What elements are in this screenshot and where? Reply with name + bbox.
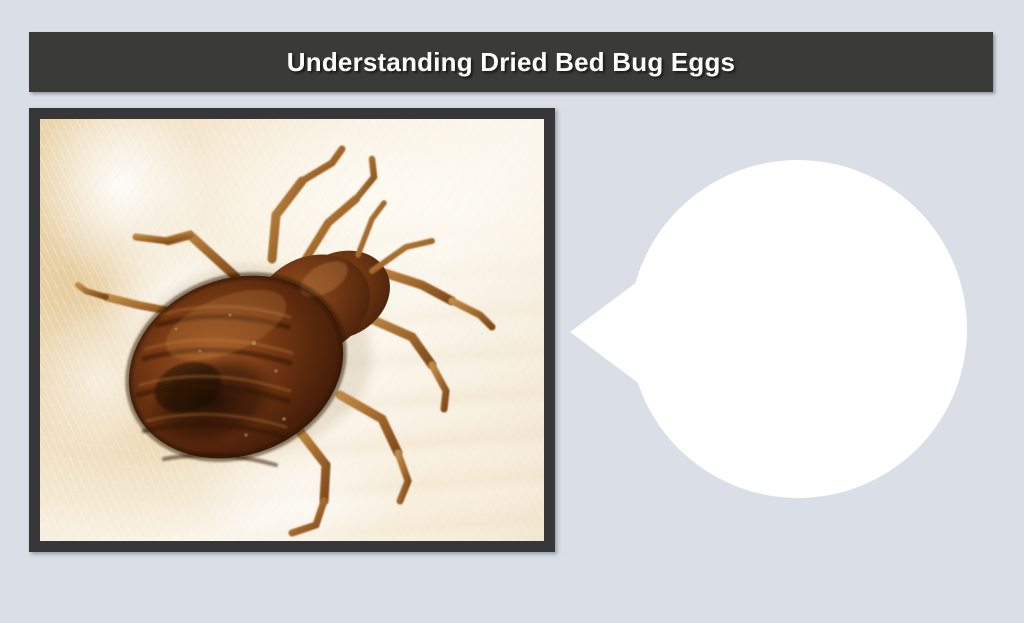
bed-bug-photo (40, 119, 544, 541)
magnified-callout (566, 155, 974, 505)
title-banner: Understanding Dried Bed Bug Eggs (29, 32, 993, 92)
callout-circle-bubble (629, 160, 967, 498)
bed-bug-photo-frame (29, 108, 555, 552)
slide-canvas: Understanding Dried Bed Bug Eggs (0, 0, 1024, 576)
page-title: Understanding Dried Bed Bug Eggs (287, 47, 735, 78)
bed-bug-illustration (40, 119, 544, 541)
callout-bubble-shape (566, 155, 974, 505)
